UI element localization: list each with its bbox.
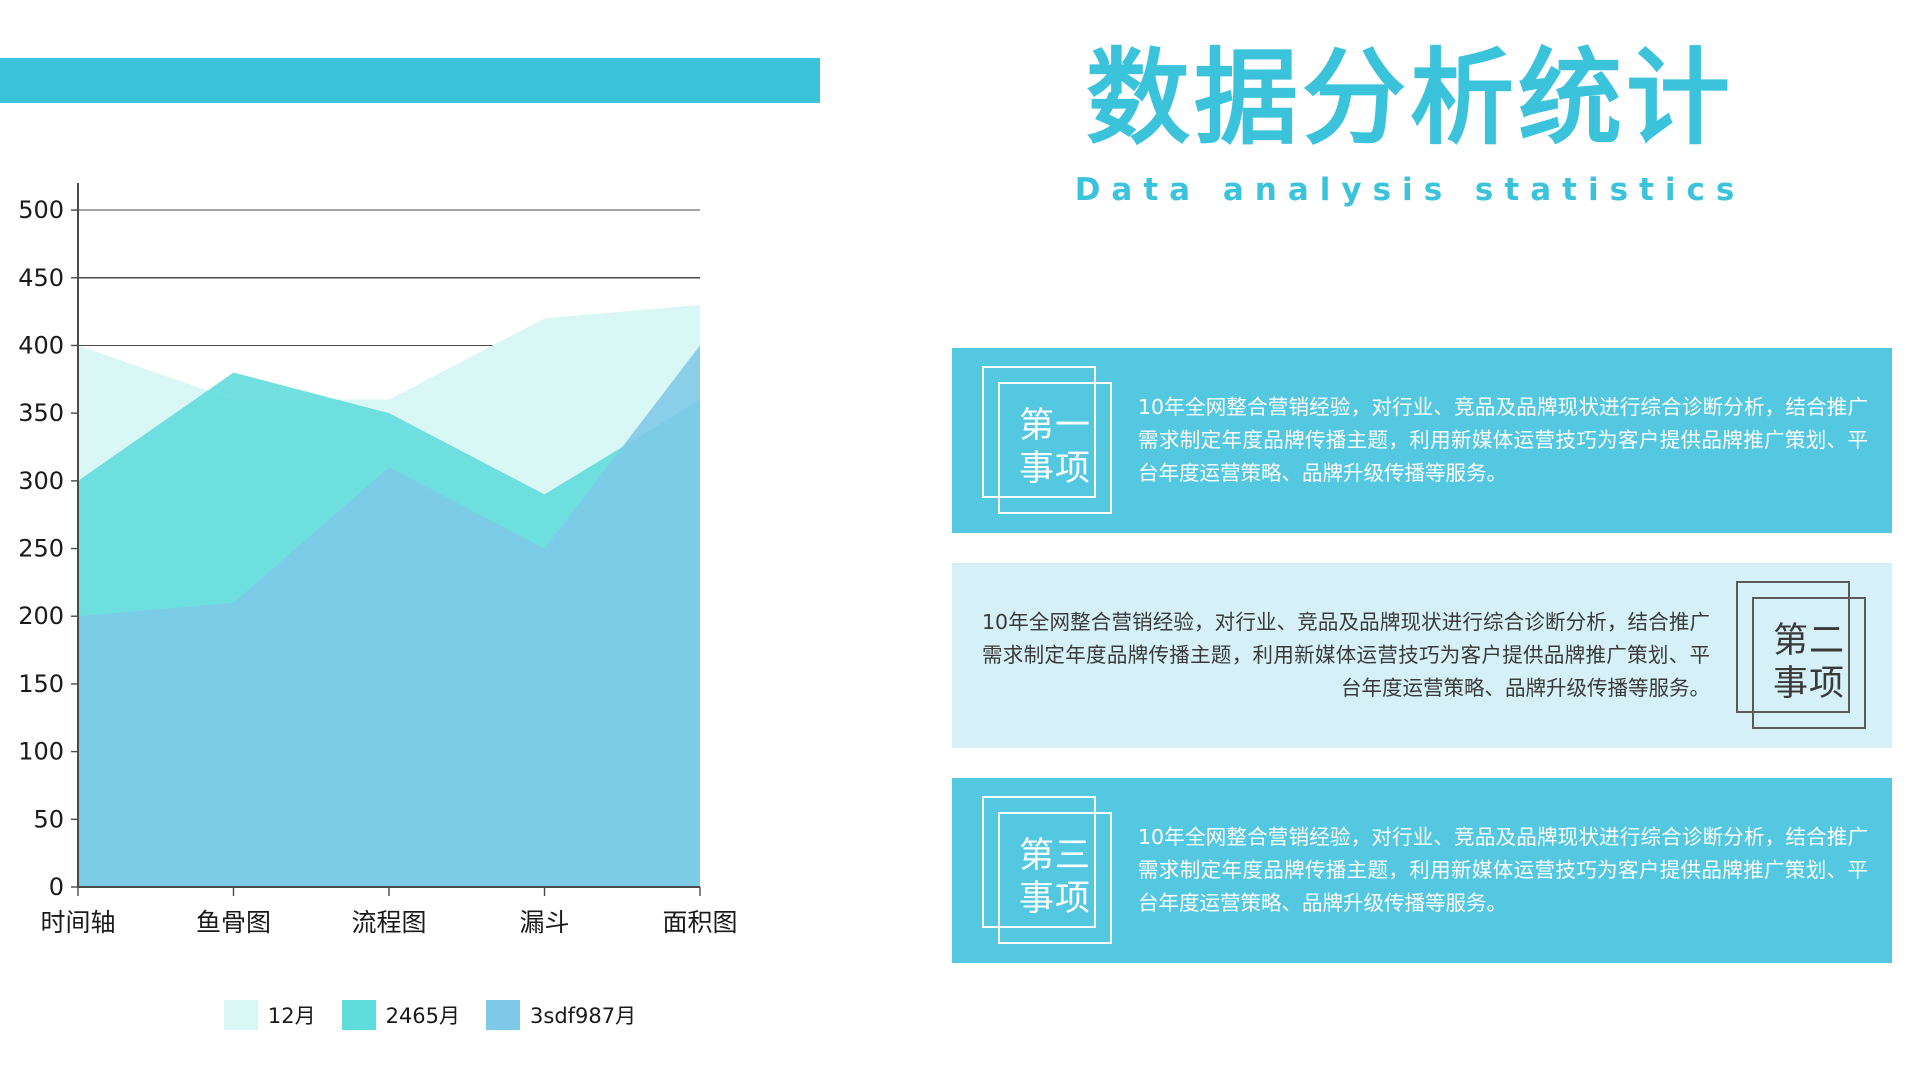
svg-text:面积图: 面积图	[662, 908, 737, 937]
svg-text:300: 300	[18, 467, 64, 495]
card-2-badge: 第二 事项	[1736, 581, 1868, 731]
legend-swatch-2	[342, 1000, 376, 1030]
legend-label-2: 2465月	[386, 1000, 460, 1030]
card-1-badge-line-1: 第一	[1019, 405, 1091, 448]
title-area: 数据分析统计 Data analysis statistics	[900, 40, 1920, 208]
page-title: 数据分析统计	[900, 40, 1920, 156]
content-card-3[interactable]: 第三 事项 10年全网整合营销经验，对行业、竞品及品牌现状进行综合诊断分析，结合…	[952, 778, 1892, 963]
legend-label-1: 12月	[268, 1000, 316, 1030]
legend-swatch-3	[486, 1000, 520, 1030]
content-panel: 数据分析统计 Data analysis statistics 第一 事项 10…	[900, 0, 1920, 1080]
top-accent-bar	[0, 58, 820, 103]
svg-text:时间轴: 时间轴	[40, 908, 115, 937]
content-card-1[interactable]: 第一 事项 10年全网整合营销经验，对行业、竞品及品牌现状进行综合诊断分析，结合…	[952, 348, 1892, 533]
page-subtitle: Data analysis statistics	[900, 172, 1920, 208]
svg-text:0: 0	[49, 873, 64, 901]
card-1-badge-front-frame: 第一 事项	[998, 382, 1112, 514]
card-3-badge-line-1: 第三	[1019, 835, 1091, 878]
chart-series-group	[78, 305, 700, 887]
card-1-body: 10年全网整合营销经验，对行业、竞品及品牌现状进行综合诊断分析，结合推广需求制定…	[1114, 391, 1868, 491]
svg-text:500: 500	[18, 196, 64, 224]
svg-text:400: 400	[18, 331, 64, 359]
svg-text:250: 250	[18, 535, 64, 563]
chart-y-tick-labels: 050100150200250300350400450500	[18, 196, 64, 901]
svg-text:50: 50	[33, 805, 64, 833]
legend-label-3: 3sdf987月	[530, 1000, 636, 1030]
svg-text:流程图: 流程图	[351, 908, 426, 937]
card-2-badge-line-2: 事项	[1773, 663, 1845, 706]
svg-text:350: 350	[18, 399, 64, 427]
chart-x-tick-labels: 时间轴鱼骨图流程图漏斗面积图	[40, 908, 737, 937]
legend-swatch-1	[224, 1000, 258, 1030]
svg-text:鱼骨图: 鱼骨图	[196, 908, 271, 937]
card-3-body: 10年全网整合营销经验，对行业、竞品及品牌现状进行综合诊断分析，结合推广需求制定…	[1114, 821, 1868, 921]
card-2-body: 10年全网整合营销经验，对行业、竞品及品牌现状进行综合诊断分析，结合推广需求制定…	[982, 606, 1736, 706]
svg-text:200: 200	[18, 602, 64, 630]
legend-item-3[interactable]: 3sdf987月	[486, 1000, 636, 1030]
area-chart: 050100150200250300350400450500 时间轴鱼骨图流程图…	[0, 175, 880, 985]
card-3-badge: 第三 事项	[982, 796, 1114, 946]
svg-text:150: 150	[18, 670, 64, 698]
chart-panel: 050100150200250300350400450500 时间轴鱼骨图流程图…	[0, 0, 900, 1080]
card-1-badge: 第一 事项	[982, 366, 1114, 516]
legend-item-1[interactable]: 12月	[224, 1000, 316, 1030]
content-card-2[interactable]: 10年全网整合营销经验，对行业、竞品及品牌现状进行综合诊断分析，结合推广需求制定…	[952, 563, 1892, 748]
svg-text:漏斗: 漏斗	[519, 908, 569, 937]
card-2-badge-front-frame: 第二 事项	[1752, 597, 1866, 729]
slide-canvas: 050100150200250300350400450500 时间轴鱼骨图流程图…	[0, 0, 1920, 1080]
card-2-badge-line-1: 第二	[1773, 620, 1845, 663]
card-3-badge-front-frame: 第三 事项	[998, 812, 1112, 944]
svg-text:100: 100	[18, 738, 64, 766]
chart-legend: 12月2465月3sdf987月	[0, 1000, 860, 1030]
card-3-badge-line-2: 事项	[1019, 878, 1091, 921]
area-chart-svg: 050100150200250300350400450500 时间轴鱼骨图流程图…	[0, 175, 880, 985]
svg-text:450: 450	[18, 264, 64, 292]
legend-item-2[interactable]: 2465月	[342, 1000, 460, 1030]
card-1-badge-line-2: 事项	[1019, 448, 1091, 491]
